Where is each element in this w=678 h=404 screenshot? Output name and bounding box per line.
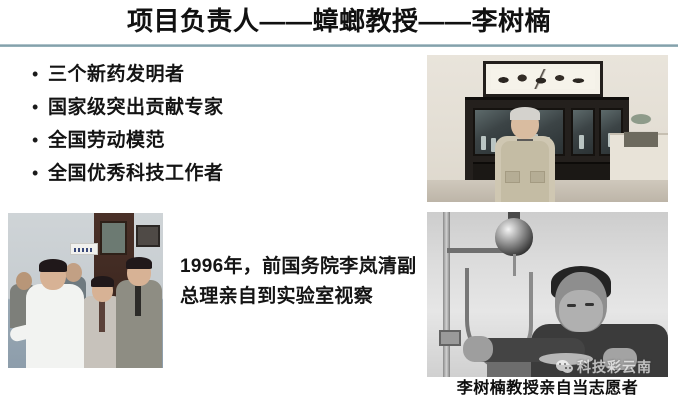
watermark-label: 科技彩云南 — [577, 357, 652, 377]
bullet-marker-icon: • — [26, 124, 48, 157]
photo-official-visit-content — [8, 213, 163, 368]
list-item: • 全国劳动模范 — [26, 124, 416, 157]
official-tie — [135, 286, 141, 316]
volunteer-caption: 李树楠教授亲自当志愿者 — [427, 378, 668, 400]
photo-volunteer — [427, 212, 668, 377]
visit-caption: 1996年，前国务院李岚清副总理亲自到实验室视察 — [180, 252, 418, 312]
tube-clamp — [439, 330, 461, 346]
wechat-dot — [564, 363, 566, 365]
aide-hair — [91, 276, 114, 287]
reagent-bottle — [481, 136, 486, 150]
infusion-flask — [495, 218, 533, 256]
bullet-label: 国家级突出贡献专家 — [48, 91, 224, 124]
photo-professor-lab — [427, 55, 668, 202]
photo-professor-lab-content — [427, 55, 668, 202]
page-title: 项目负责人——蟑螂教授——李树楠 — [0, 4, 678, 38]
scientist-lab-coat-body — [26, 284, 84, 368]
official-hair — [126, 257, 152, 269]
wechat-bubble-small — [562, 364, 573, 373]
professor-vest — [501, 141, 549, 202]
list-item: • 国家级突出贡献专家 — [26, 91, 416, 124]
background-figure-head — [65, 263, 82, 282]
watermark: 科技彩云南 — [556, 357, 652, 377]
potted-plant — [624, 113, 658, 147]
photo-official-visit — [8, 213, 163, 368]
wall-sign — [70, 243, 98, 255]
bullet-marker-icon: • — [26, 157, 48, 190]
calligraphy-frame — [483, 61, 603, 97]
door-window — [100, 221, 127, 255]
calligraphy-art — [491, 69, 595, 89]
photo-volunteer-content — [427, 212, 668, 377]
wechat-dot — [569, 367, 571, 369]
wechat-dot — [559, 363, 561, 365]
wechat-icon — [556, 360, 573, 374]
vest-pocket — [530, 171, 545, 183]
volunteer-eye — [567, 304, 576, 307]
wall-frame — [136, 225, 160, 247]
reagent-bottle — [579, 135, 584, 149]
professor-figure — [493, 109, 557, 202]
vest-pocket — [505, 171, 520, 183]
title-divider — [0, 44, 678, 47]
volunteer-hand — [463, 336, 493, 362]
aide-tie — [99, 298, 105, 332]
bullet-label: 全国劳动模范 — [48, 124, 165, 157]
bullet-marker-icon: • — [26, 58, 48, 91]
scientist-hair — [39, 259, 67, 272]
professor-hair — [510, 107, 540, 120]
wechat-dot — [565, 367, 567, 369]
bullet-marker-icon: • — [26, 91, 48, 124]
bullet-label: 三个新药发明者 — [48, 58, 185, 91]
list-item: • 三个新药发明者 — [26, 58, 416, 91]
cabinet-glass-door — [571, 108, 595, 156]
volunteer-eye — [585, 303, 594, 306]
volunteer-face — [559, 290, 603, 332]
list-item: • 全国优秀科技工作者 — [26, 157, 416, 190]
slide-canvas: 项目负责人——蟑螂教授——李树楠 • 三个新药发明者 • 国家级突出贡献专家 •… — [0, 0, 678, 404]
bullet-list: • 三个新药发明者 • 国家级突出贡献专家 • 全国劳动模范 • 全国优秀科技工… — [26, 58, 416, 190]
bullet-label: 全国优秀科技工作者 — [48, 157, 224, 190]
lab-stand-pole — [443, 212, 450, 377]
